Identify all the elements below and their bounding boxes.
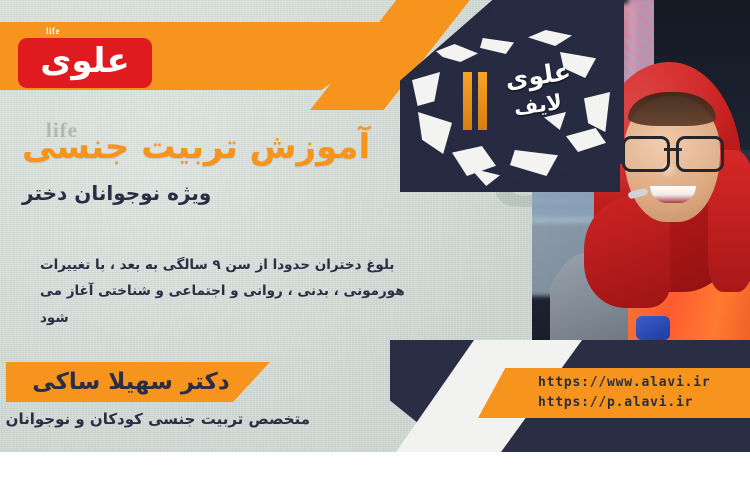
page-subtitle: ویژه نوجوانان دختر <box>22 181 372 205</box>
logo-name: علوی <box>40 44 130 82</box>
link-primary-website[interactable]: https://www.alavi.ir <box>478 373 750 393</box>
description-paragraph: بلوغ دختران حدودا از سن ۹ سالگی به بعد ،… <box>40 252 410 331</box>
logo-badge: علوی <box>18 38 152 88</box>
presenter-name-banner: دکتر سهیلا ساکی <box>6 362 270 402</box>
poster-canvas: علوی life <box>0 0 750 480</box>
presenter-collar <box>636 316 670 340</box>
badge-bar-1 <box>463 72 472 130</box>
glasses-icon <box>622 136 724 166</box>
link-secondary-website[interactable]: https://p.alavi.ir <box>478 393 750 413</box>
presenter-role: متخصص تربیت جنسی کودکان و نوجوانان <box>40 410 310 428</box>
badge-text: علوی لایف <box>478 62 598 117</box>
page-title: آموزش تربیت جنسی <box>22 128 372 167</box>
glasses-right-lens <box>676 136 724 172</box>
glasses-left-lens <box>622 136 670 172</box>
url-banner: https://www.alavi.ir https://p.alavi.ir <box>478 368 750 418</box>
presenter-name: دکتر سهیلا ساکی <box>32 369 243 395</box>
headline-block: آموزش تربیت جنسی ویژه نوجوانان دختر <box>22 128 372 205</box>
background-bottom-strip <box>0 452 750 480</box>
logo-tagline: life <box>46 26 60 36</box>
